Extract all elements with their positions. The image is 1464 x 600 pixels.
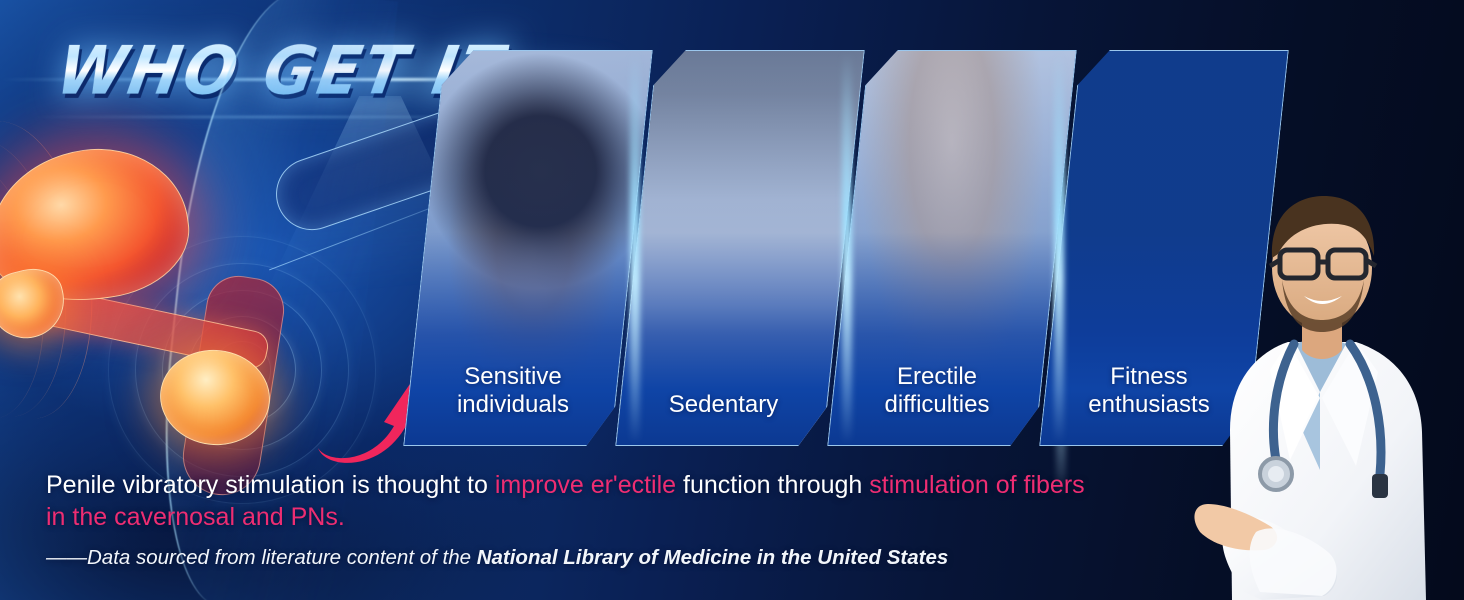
- doctor-presenter: [1170, 130, 1464, 600]
- copy-highlight-3: in the cavernosal and PNs.: [46, 503, 345, 531]
- copy-main-text: Penile vibratory stimulation is thought …: [46, 469, 1166, 533]
- citation-prefix: ——Data sourced from literature content o…: [46, 546, 477, 569]
- persona-card-label: Sedentary: [620, 391, 826, 419]
- persona-card-sensitive-individuals[interactable]: Sensitive individuals: [403, 50, 653, 446]
- copy-highlight-2: stimulation of fibers: [869, 471, 1084, 499]
- persona-card-list: Sensitive individuals Sedentary Erectile…: [424, 50, 1224, 450]
- persona-card-label: Erectile difficulties: [834, 363, 1040, 419]
- card-edge-glow-c: [1054, 52, 1064, 444]
- promo-banner: WHO GET IT Sensitive individuals: [0, 0, 1464, 600]
- persona-card-label: Sensitive individuals: [410, 363, 616, 419]
- card-edge-glow-b: [842, 52, 852, 444]
- copy-text-1: Penile vibratory stimulation is thought …: [46, 471, 495, 499]
- copy-citation: ——Data sourced from literature content o…: [46, 546, 1166, 570]
- persona-card-erectile-difficulties[interactable]: Erectile difficulties: [827, 50, 1077, 446]
- persona-card-sedentary[interactable]: Sedentary: [615, 50, 865, 446]
- citation-source: National Library of Medicine in the Unit…: [477, 546, 949, 569]
- copy-text-2: function through: [676, 471, 869, 499]
- copy-block: Penile vibratory stimulation is thought …: [46, 469, 1166, 570]
- card-edge-glow-a: [630, 52, 640, 444]
- copy-highlight-1: improve er'ectile: [495, 471, 676, 499]
- card-overlay: [616, 51, 863, 445]
